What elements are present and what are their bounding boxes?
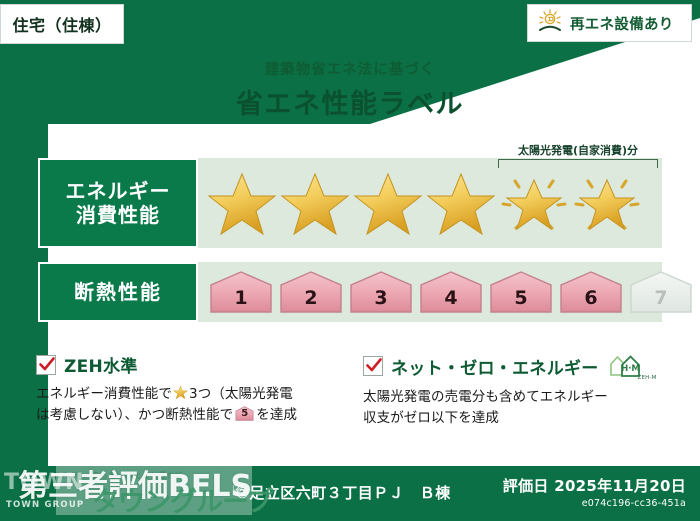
zeh-standard-block: ZEH水準 エネルギー消費性能で3つ（太陽光発電 は考慮しない）、かつ断熱性能で… xyxy=(36,352,336,425)
inline-house-badge: 5 xyxy=(235,406,254,421)
inline-star-icon xyxy=(173,385,188,400)
zeh-body-part2: は考慮しない）、かつ断熱性能で xyxy=(36,407,233,423)
zeh-body-part3: を達成 xyxy=(256,407,297,423)
insulation-label-text: 断熱性能 xyxy=(74,280,162,304)
net-zero-title: ネット・ゼロ・エネルギー xyxy=(391,354,599,379)
insulation-level-1: 1 xyxy=(208,270,274,314)
energy-performance-label: エネルギー 消費性能 xyxy=(38,158,198,248)
zeh-description: エネルギー消費性能で3つ（太陽光発電 は考慮しない）、かつ断熱性能で5を達成 xyxy=(36,384,336,425)
energy-label-line1: エネルギー xyxy=(66,179,171,203)
house-type-label: 住宅（住棟） xyxy=(12,12,111,36)
star-6-solar xyxy=(571,168,643,238)
net-zero-checkbox xyxy=(363,356,383,376)
zeh-title: ZEH水準 xyxy=(64,352,138,377)
net-zero-energy-block: ネット・ゼロ・エネルギー H·M ZEH-M 太陽光発電の売電分も含めてエネルギ… xyxy=(363,352,673,428)
zeh-heading: ZEH水準 xyxy=(36,352,336,377)
insulation-level-2: 2 xyxy=(278,270,344,314)
label-title-block: 建築物省エネ法に基づく 省エネ性能ラベル xyxy=(0,58,700,121)
star-1 xyxy=(206,168,278,238)
renewable-equipment-badge: 再エネ設備あり xyxy=(527,4,692,42)
svg-text:H·M: H·M xyxy=(621,364,640,374)
energy-performance-row: エネルギー 消費性能 太陽光発電(自家消費)分 xyxy=(38,158,662,248)
insulation-level-1-number: 1 xyxy=(234,287,247,314)
footer-bar: ②足立区六町３丁目ＰＪ Ｂ棟 評価日 2025年11月20日 e074c196-… xyxy=(0,466,700,521)
insulation-level-7: 7 xyxy=(628,270,694,314)
energy-label-card: 住宅（住棟） 再エネ設備あり 建築物省エネ法に基づく xyxy=(0,0,700,521)
title-subtitle: 建築物省エネ法に基づく xyxy=(0,58,700,79)
insulation-level-2-number: 2 xyxy=(304,287,317,314)
zeh-checkbox xyxy=(36,355,56,375)
solar-self-consumption-note: 太陽光発電(自家消費)分 xyxy=(498,142,658,158)
inline-house-number: 5 xyxy=(235,406,254,421)
insulation-level-6-number: 6 xyxy=(584,287,597,314)
insulation-level-5: 5 xyxy=(488,270,554,314)
document-id: e074c196-cc36-451a xyxy=(503,498,686,509)
net-zero-body-line1: 太陽光発電の売電分も含めてエネルギー xyxy=(363,389,608,405)
title-main: 省エネ性能ラベル xyxy=(0,82,700,121)
star-2 xyxy=(279,168,351,238)
renewable-badge-label: 再エネ設備あり xyxy=(570,13,674,34)
solar-bracket xyxy=(498,159,658,168)
evaluation-info: 評価日 2025年11月20日 e074c196-cc36-451a xyxy=(503,475,686,509)
insulation-level-4-number: 4 xyxy=(444,287,457,314)
insulation-level-4: 4 xyxy=(418,270,484,314)
zeh-m-logo-caption: ZEH-M xyxy=(638,375,657,381)
evaluation-date: 評価日 2025年11月20日 xyxy=(503,475,686,496)
net-zero-description: 太陽光発電の売電分も含めてエネルギー 収支がゼロ以下を達成 xyxy=(363,387,673,428)
zeh-body-starcount: 3つ（太陽光発電 xyxy=(189,386,293,402)
insulation-performance-row: 断熱性能 xyxy=(38,262,662,322)
sun-icon xyxy=(536,8,564,38)
property-address: ②足立区六町３丁目ＰＪ Ｂ棟 xyxy=(236,482,451,503)
insulation-level-3: 3 xyxy=(348,270,414,314)
energy-star-rating: 太陽光発電(自家消費)分 xyxy=(198,158,662,248)
insulation-performance-label: 断熱性能 xyxy=(38,262,198,322)
insulation-level-3-number: 3 xyxy=(374,287,387,314)
house-type-tab: 住宅（住棟） xyxy=(0,4,124,44)
star-3 xyxy=(352,168,424,238)
insulation-level-6: 6 xyxy=(558,270,624,314)
insulation-level-7-number: 7 xyxy=(654,287,667,314)
energy-label-line2: 消費性能 xyxy=(76,203,160,227)
net-zero-heading: ネット・ゼロ・エネルギー H·M ZEH-M xyxy=(363,352,673,380)
zeh-body-part1: エネルギー消費性能で xyxy=(36,386,172,402)
net-zero-body-line2: 収支がゼロ以下を達成 xyxy=(363,410,499,426)
zeh-m-logo-icon: H·M ZEH-M xyxy=(605,352,651,380)
star-4 xyxy=(425,168,497,238)
insulation-level-5-number: 5 xyxy=(514,287,527,314)
insulation-level-scale: 1 2 3 4 xyxy=(198,262,662,322)
star-5-solar xyxy=(498,168,570,238)
